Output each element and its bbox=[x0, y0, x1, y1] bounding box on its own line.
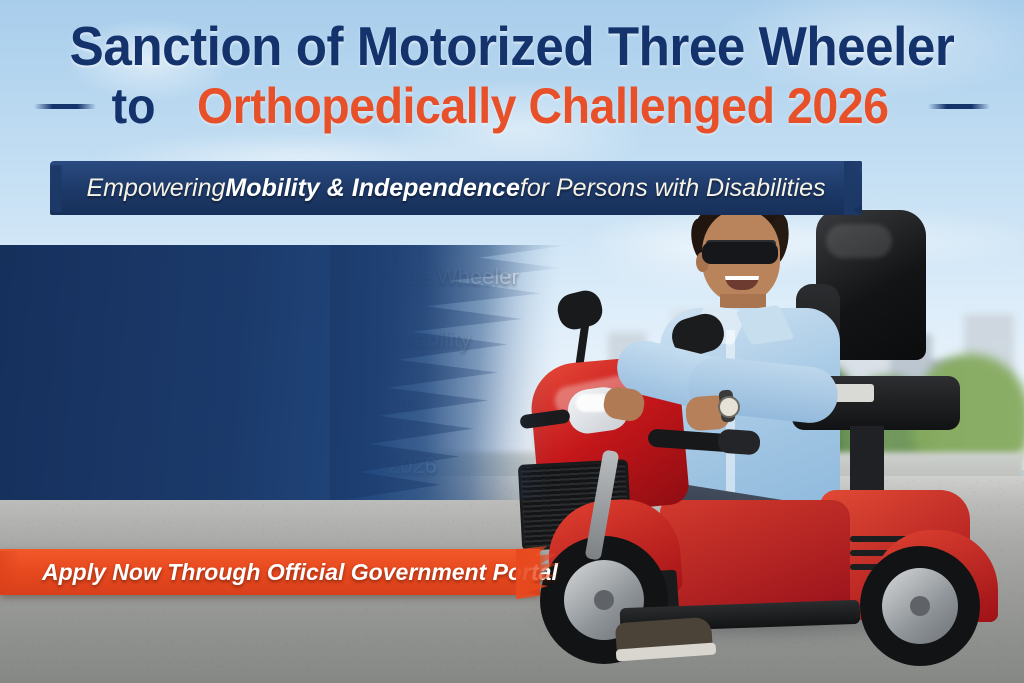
subtitle-banner: Empowering Mobility & Independence for P… bbox=[50, 161, 862, 215]
subtitle-text: Empowering Mobility & Independence for P… bbox=[50, 161, 862, 215]
rider-on-three-wheeler-image bbox=[520, 200, 1024, 645]
subtitle-part-1: Empowering bbox=[86, 174, 225, 203]
poster-root: Sanction of Motorized Three Wheeler to O… bbox=[0, 0, 1024, 683]
subtitle-part-2: for Persons with Disabilities bbox=[520, 174, 826, 203]
benefits-panel bbox=[0, 245, 560, 500]
subtitle-bold: Mobility & Independence bbox=[225, 174, 519, 203]
cta-label: Apply Now Through Official Government Po… bbox=[0, 549, 540, 595]
apply-now-cta-banner[interactable]: Apply Now Through Official Government Po… bbox=[0, 549, 540, 595]
